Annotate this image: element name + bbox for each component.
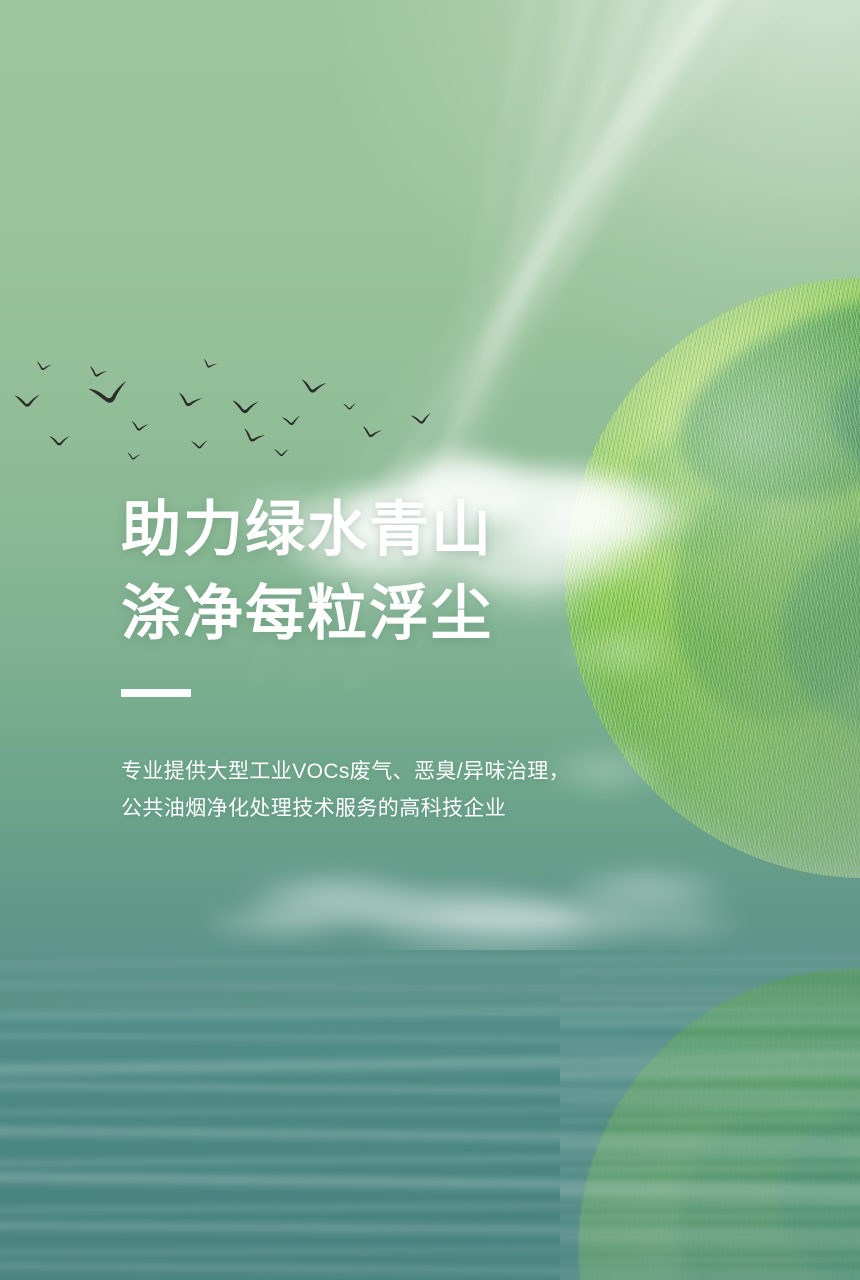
water-ripple-line — [0, 1168, 860, 1198]
water-ripple-line — [0, 981, 860, 994]
hero-copy-block: 助力绿水青山 涤净每粒浮尘 专业提供大型工业VOCs废气、恶臭/异味治理， 公共… — [121, 488, 681, 827]
water-ripple-line — [0, 1199, 860, 1216]
water-ripple-line — [0, 952, 860, 970]
water-ripple-line — [0, 1047, 860, 1080]
water-ripple-line — [0, 1150, 860, 1169]
water-ripple-line — [0, 1031, 860, 1048]
divider-rule — [121, 689, 191, 697]
water-ripples — [0, 950, 860, 1280]
water-ripple-line — [0, 1260, 860, 1280]
water-ripple-line — [0, 1103, 860, 1117]
water-ripple-line — [0, 1243, 860, 1257]
headline-line-2: 涤净每粒浮尘 — [121, 572, 681, 656]
water-ripple-line — [0, 1003, 860, 1024]
poster-hero-banner: 助力绿水青山 涤净每粒浮尘 专业提供大型工业VOCs废气、恶臭/异味治理， 公共… — [0, 0, 860, 1280]
subtitle-block: 专业提供大型工业VOCs废气、恶臭/异味治理， 公共油烟净化处理技术服务的高科技… — [121, 753, 681, 827]
water-ripple-line — [0, 1219, 860, 1240]
water-ripple-line — [0, 1123, 860, 1149]
headline-line-1: 助力绿水青山 — [121, 488, 681, 572]
subtitle-line-2: 公共油烟净化处理技术服务的高科技企业 — [121, 790, 681, 827]
subtitle-line-1: 专业提供大型工业VOCs废气、恶臭/异味治理， — [121, 753, 681, 790]
water-ripple-line — [0, 1080, 860, 1100]
